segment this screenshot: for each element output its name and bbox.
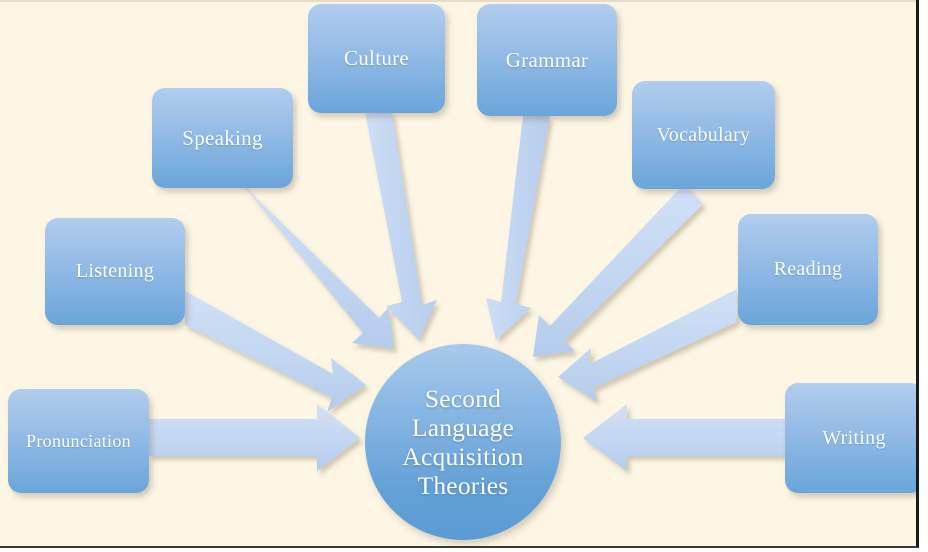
arrow-pronunciation-to-hub xyxy=(148,404,360,471)
node-vocabulary-label: Vocabulary xyxy=(657,124,751,147)
node-writing[interactable]: Writing xyxy=(785,383,919,493)
hub-label-line-1: Second xyxy=(402,384,523,413)
node-speaking-label: Speaking xyxy=(182,126,263,151)
hub-label-line-4: Theories xyxy=(402,471,523,500)
node-vocabulary[interactable]: Vocabulary xyxy=(632,81,775,189)
arrow-speaking-to-hub xyxy=(236,176,394,349)
node-writing-label: Writing xyxy=(822,427,886,450)
node-reading-label: Reading xyxy=(774,258,843,281)
hub-label-line-3: Acquisition xyxy=(402,442,523,471)
node-pronunciation-label: Pronunciation xyxy=(26,431,131,452)
hub-label-line-2: Language xyxy=(402,413,523,442)
arrow-listening-to-hub xyxy=(185,291,366,412)
diagram-canvas: Second Language Acquisition Theories Cul… xyxy=(0,0,928,552)
node-reading[interactable]: Reading xyxy=(738,214,878,325)
node-culture-label: Culture xyxy=(344,46,409,71)
node-grammar[interactable]: Grammar xyxy=(477,4,617,116)
hub-label: Second Language Acquisition Theories xyxy=(402,384,523,500)
hub-node[interactable]: Second Language Acquisition Theories xyxy=(365,344,561,540)
node-grammar-label: Grammar xyxy=(506,48,589,73)
node-listening[interactable]: Listening xyxy=(45,218,185,325)
arrow-culture-to-hub xyxy=(365,112,437,340)
arrow-grammar-to-hub xyxy=(486,116,550,340)
arrow-writing-to-hub xyxy=(583,404,786,471)
node-culture[interactable]: Culture xyxy=(308,4,445,113)
node-listening-label: Listening xyxy=(76,260,154,283)
node-speaking[interactable]: Speaking xyxy=(152,88,293,188)
node-pronunciation[interactable]: Pronunciation xyxy=(8,389,149,493)
slide-surface: Second Language Acquisition Theories Cul… xyxy=(0,0,919,548)
